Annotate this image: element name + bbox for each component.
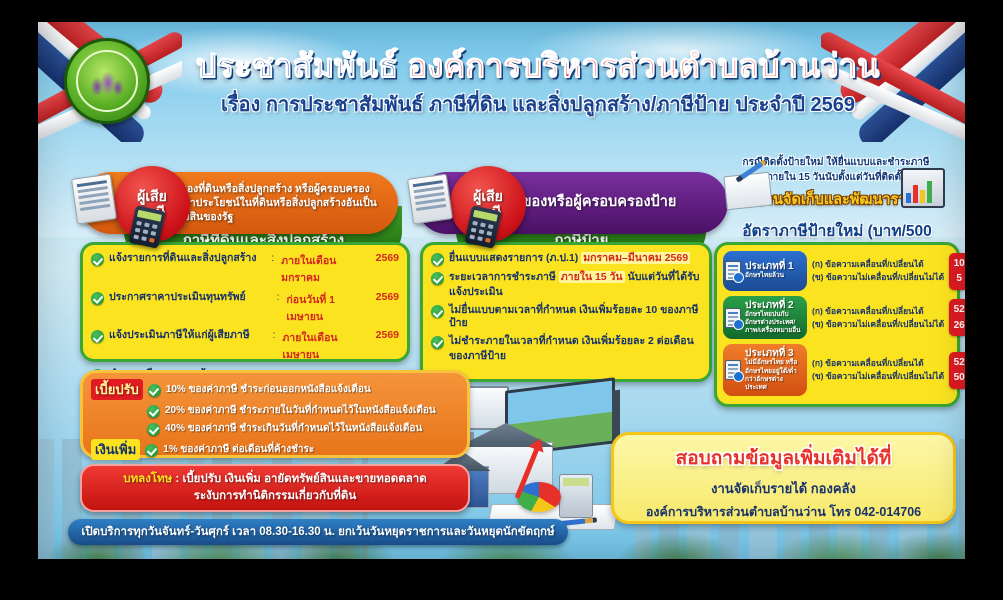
type1-tag: ประเภทที่ 1 อักษรไทยล้วน (723, 251, 807, 291)
type2-name: ประเภทที่ 2 (745, 300, 803, 311)
clipboard-check-icon (725, 360, 741, 380)
rate-row-type1: ประเภทที่ 1 อักษรไทยล้วน (ก) ข้อความเคลื… (723, 251, 951, 291)
penalty-row: เบี้ยปรับ 10% ของค่าภาษี ชำระก่อนออกหนัง… (91, 379, 459, 400)
bar-chart-monitor-icon (901, 168, 945, 208)
penalty-box: เบี้ยปรับ 10% ของค่าภาษี ชำระก่อนออกหนัง… (80, 370, 470, 458)
check-icon (431, 305, 444, 318)
type1-option-b: (ข) ข้อความไม่เคลื่อนที่/เปลี่ยนไม่ได้ (812, 271, 944, 284)
type2-rates: 52 26 (949, 299, 965, 336)
schedule-value: ก่อนวันที่ 1 เมษายน (286, 291, 370, 325)
check-icon (147, 423, 160, 436)
check-icon (145, 444, 158, 457)
page-title: ประชาสัมพันธ์ องค์การบริหารส่วนตำบลบ้านว… (188, 50, 888, 120)
type3-options: (ก) ข้อความเคลื่อนที่/เปลี่ยนได้ (ข) ข้อ… (812, 357, 944, 383)
sign-desc-line1: เจ้าของหรือผู้ครอบครองป้าย (500, 193, 676, 213)
organization-logo (64, 38, 150, 124)
punishment-text1: เบี้ยปรับ เงินเพิ่ม อายัดทรัพย์สินและขาย… (182, 473, 426, 485)
schedule-year: 2569 (376, 291, 399, 303)
type2-tag: ประเภทที่ 2 อักษรไทยปนกับอักษรต่างประเทศ… (723, 296, 807, 339)
document-icon (407, 173, 453, 224)
sign-rule-text: ยื่นแบบแสดงรายการ (ภ.ป.1) มกราคม–มีนาคม … (449, 252, 690, 265)
headline-part2: องค์การบริหารส่วนตำบลบ้านว่าน (408, 48, 880, 84)
headline-subtitle: เรื่อง การประชาสัมพันธ์ ภาษีที่ดิน และสิ… (188, 88, 888, 120)
pen-document-icon (723, 172, 772, 211)
land-desc-line1: เจ้าของที่ดินหรือสิ่งปลูกสร้าง หรือผู้คร… (164, 182, 377, 196)
type3-detail: ไม่มีอักษรไทย หรืออักษรไทยอยู่ใต้/ต่ำกว่… (745, 359, 803, 392)
type1-rate-b: 5 (949, 271, 965, 287)
surcharge-tag: เงินเพิ่ม (91, 439, 140, 460)
check-icon (91, 292, 104, 305)
headline-main: ประชาสัมพันธ์ องค์การบริหารส่วนตำบลบ้านว… (188, 50, 888, 84)
land-badge-line1: ผู้เสีย (137, 188, 167, 204)
check-icon (431, 336, 444, 349)
sign-rule-sub: ของภาษีป้าย (449, 350, 701, 363)
list-item: ระยะเวลาการชำระภาษี ภายใน 15 วัน นับแต่ว… (431, 271, 701, 285)
sign-rule-text: ระยะเวลาการชำระภาษี ภายใน 15 วัน นับแต่ว… (449, 271, 699, 284)
punishment-line2: ระงับการทำนิติกรรมเกี่ยวกับที่ดิน (92, 488, 458, 505)
type3-option-b: (ข) ข้อความไม่เคลื่อนที่/เปลี่ยนไม่ได้ (812, 370, 944, 383)
check-icon (431, 253, 444, 266)
contact-org-phone: องค์การบริหารส่วนตำบลบ้านว่าน โทร 042-01… (620, 502, 947, 522)
sign-rule-pre: ระยะเวลาการชำระภาษี (449, 271, 559, 283)
land-desc-line2: หรือทำประโยชน์ในที่ดินหรือสิ่งปลูกสร้างอ… (164, 196, 377, 210)
logo-inner-seal (76, 50, 138, 112)
sign-rule-text: ไม่ยื่นแบบตามเวลาที่กำหนด เงินเพิ่มร้อยล… (449, 304, 701, 330)
type2-rate-a: 52 (949, 302, 965, 318)
check-icon (91, 253, 104, 266)
list-item: ประกาศราคาประเมินทุนทรัพย์ : ก่อนวันที่ … (91, 291, 399, 325)
fine-row-2: 20% ของค่าภาษี ชำระภายในวันที่กำหนดไว้ใน… (165, 403, 436, 418)
service-hours-text: เปิดบริการทุกวันจันทร์-วันศุกร์ เวลา 08.… (81, 523, 554, 541)
logo-mountain-emblem (87, 69, 127, 95)
schedule-year: 2569 (376, 329, 399, 341)
schedule-label: ประกาศราคาประเมินทุนทรัพย์ (109, 291, 269, 304)
punishment-line1: บทลงโทษ : เบี้ยปรับ เงินเพิ่ม อายัดทรัพย… (92, 471, 458, 488)
type3-option-a: (ก) ข้อความเคลื่อนที่/เปลี่ยนได้ (812, 357, 944, 370)
surcharge-row: 1% ของค่าภาษี ต่อเดือนที่ค้างชำระ (163, 442, 314, 457)
contact-heading: สอบถามข้อมูลเพิ่มเติมได้ที่ (620, 443, 947, 473)
sign-rule-mark: ภายใน 15 วัน (559, 271, 625, 283)
punishment-tag: บทลงโทษ (123, 473, 172, 485)
rate-row-type3: ประเภทที่ 3 ไม่มีอักษรไทย หรืออักษรไทยอย… (723, 344, 951, 396)
punishment-sep: : (175, 473, 179, 485)
separator: : (269, 252, 276, 264)
sign-badge-line1: ผู้เสีย (473, 188, 503, 204)
penalty-row: 40% ของค่าภาษี ชำระเกินวันที่กำหนดไว้ในห… (147, 421, 459, 436)
sign-taxpayer-description: เจ้าของหรือผู้ครอบครองป้าย (500, 193, 676, 213)
service-hours-footer: เปิดบริการทุกวันจันทร์-วันศุกร์ เวลา 08.… (68, 519, 568, 545)
contact-box: สอบถามข้อมูลเพิ่มเติมได้ที่ งานจัดเก็บรา… (611, 432, 956, 524)
sign-rate-panel: ประเภทที่ 1 อักษรไทยล้วน (ก) ข้อความเคลื… (714, 242, 960, 407)
sign-rule-pre: ยื่นแบบแสดงรายการ (ภ.ป.1) (449, 252, 581, 264)
type3-rate-b: 50 (949, 370, 965, 386)
type2-rate-b: 26 (949, 318, 965, 334)
type1-detail: อักษรไทยล้วน (745, 272, 803, 280)
clipboard-check-icon (725, 308, 741, 328)
type1-rates: 10 5 (949, 253, 965, 290)
separator: : (274, 291, 281, 303)
calculator-illustration-icon (559, 474, 593, 518)
type2-detail: อักษรไทยปนกับอักษรต่างประเทศ/ภาพ/เครื่อง… (745, 311, 803, 335)
poster-root: ประชาสัมพันธ์ องค์การบริหารส่วนตำบลบ้านว… (38, 22, 965, 559)
check-icon (431, 272, 444, 285)
fine-row-1: 10% ของค่าภาษี ชำระก่อนออกหนังสือแจ้งเตื… (166, 382, 371, 397)
schedule-value: ภายในเดือน มกราคม (281, 252, 370, 286)
check-icon (91, 330, 104, 343)
schedule-label: แจ้งรายการที่ดินและสิ่งปลูกสร้าง (109, 252, 264, 265)
land-tax-schedule-box: แจ้งรายการที่ดินและสิ่งปลูกสร้าง : ภายใน… (80, 242, 410, 362)
penalty-row: เงินเพิ่ม 1% ของค่าภาษี ต่อเดือนที่ค้างช… (91, 439, 459, 460)
new-sign-notice: กรณีติดตั้งป้ายใหม่ ให้ยื่นแบบและชำระภาษ… (721, 150, 951, 215)
rate-row-type2: ประเภทที่ 2 อักษรไทยปนกับอักษรต่างประเทศ… (723, 296, 951, 339)
sign-rule-post: นับแต่วันที่ได้รับ (625, 271, 700, 283)
penalty-row: 20% ของค่าภาษี ชำระภายในวันที่กำหนดไว้ใน… (147, 403, 459, 418)
list-item: ไม่ยื่นแบบตามเวลาที่กำหนด เงินเพิ่มร้อยล… (431, 304, 701, 330)
sign-tax-schedule-box: ยื่นแบบแสดงรายการ (ภ.ป.1) มกราคม–มีนาคม … (420, 242, 712, 382)
fine-row-3: 40% ของค่าภาษี ชำระเกินวันที่กำหนดไว้ในห… (165, 421, 422, 436)
fine-tag: เบี้ยปรับ (91, 379, 143, 400)
land-desc-line3: ทรัพย์สินของรัฐ (164, 210, 377, 224)
list-item: แจ้งรายการที่ดินและสิ่งปลูกสร้าง : ภายใน… (91, 252, 399, 286)
type3-rate-a: 52 (949, 355, 965, 371)
type1-option-a: (ก) ข้อความเคลื่อนที่/เปลี่ยนได้ (812, 258, 944, 271)
contact-office: งานจัดเก็บรายได้ กองคลัง (620, 478, 947, 499)
type3-name: ประเภทที่ 3 (745, 348, 803, 359)
type2-option-b: (ข) ข้อความไม่เคลื่อนที่/เปลี่ยนไม่ได้ (812, 318, 944, 331)
headline-part1: ประชาสัมพันธ์ (196, 48, 408, 84)
list-item: แจ้งประเมินภาษีให้แก่ผู้เสียภาษี : ภายใน… (91, 329, 399, 363)
list-item: ยื่นแบบแสดงรายการ (ภ.ป.1) มกราคม–มีนาคม … (431, 252, 701, 266)
sign-rule-mark: มกราคม–มีนาคม 2569 (581, 252, 690, 264)
list-item: ไม่ชำระภายในเวลาที่กำหนด เงินเพิ่มร้อยละ… (431, 335, 701, 349)
type1-name: ประเภทที่ 1 (745, 261, 803, 272)
schedule-year: 2569 (376, 252, 399, 264)
document-icon (71, 173, 117, 224)
type2-option-a: (ก) ข้อความเคลื่อนที่/เปลี่ยนได้ (812, 305, 944, 318)
check-icon (147, 405, 160, 418)
punishment-box: บทลงโทษ : เบี้ยปรับ เงินเพิ่ม อายัดทรัพย… (80, 464, 470, 512)
type1-options: (ก) ข้อความเคลื่อนที่/เปลี่ยนได้ (ข) ข้อ… (812, 258, 944, 284)
check-icon (148, 384, 161, 397)
clipboard-check-icon (725, 261, 741, 281)
sign-rule-sub: แจ้งประเมิน (449, 286, 701, 299)
type1-rate-a: 10 (949, 256, 965, 272)
type2-options: (ก) ข้อความเคลื่อนที่/เปลี่ยนได้ (ข) ข้อ… (812, 305, 944, 331)
land-taxpayer-description: เจ้าของที่ดินหรือสิ่งปลูกสร้าง หรือผู้คร… (164, 182, 377, 225)
type3-tag: ประเภทที่ 3 ไม่มีอักษรไทย หรืออักษรไทยอย… (723, 344, 807, 396)
schedule-value: ภายในเดือน เมษายน (282, 329, 370, 363)
sign-rule-text: ไม่ชำระภายในเวลาที่กำหนด เงินเพิ่มร้อยละ… (449, 335, 694, 348)
type3-rates: 52 50 (949, 352, 965, 389)
separator: : (270, 329, 277, 341)
schedule-label: แจ้งประเมินภาษีให้แก่ผู้เสียภาษี (109, 329, 265, 342)
